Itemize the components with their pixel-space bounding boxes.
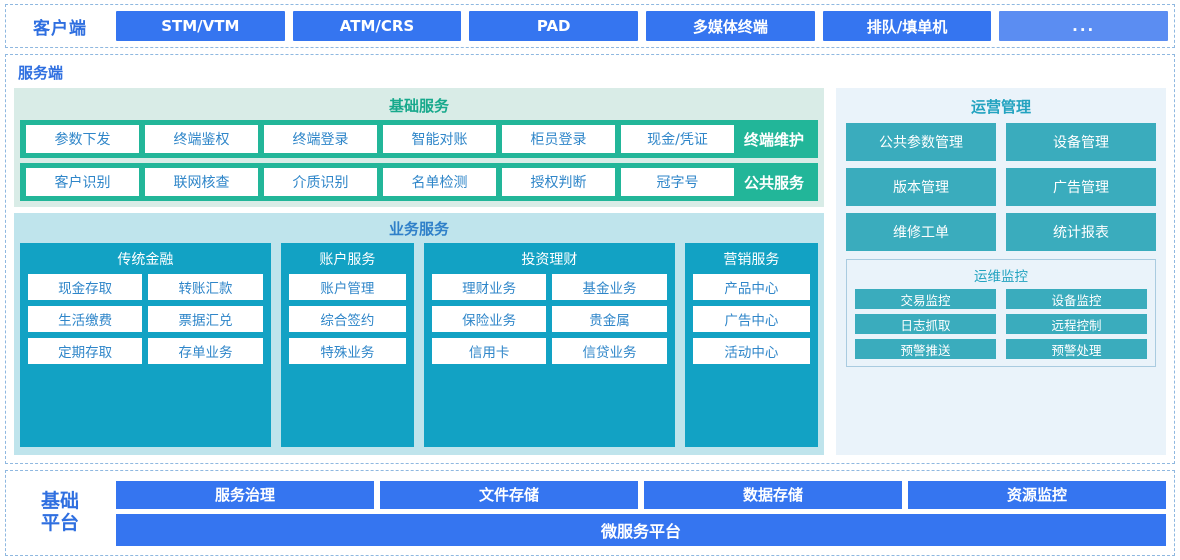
ops-item-statistical-report[interactable]: 统计报表 <box>1006 213 1156 251</box>
service-online-verification[interactable]: 联网核查 <box>145 168 258 196</box>
platform-section: 基础 平台 服务治理 文件存储 数据存储 资源监控 微服务平台 <box>5 470 1175 556</box>
service-serial-number[interactable]: 冠字号 <box>621 168 734 196</box>
business-group-title-investment-wealth: 投资理财 <box>432 247 667 274</box>
operations-monitoring-title: 运维监控 <box>855 262 1147 289</box>
business-group-marketing-service: 营销服务 产品中心 广告中心 活动中心 <box>685 243 818 447</box>
platform-title-line1: 基础 <box>14 491 106 513</box>
business-group-items-investment-wealth: 理财业务 基金业务 保险业务 贵金属 信用卡 信贷业务 <box>432 274 667 439</box>
business-item-account-management[interactable]: 账户管理 <box>289 274 406 300</box>
ops-item-repair-work-order[interactable]: 维修工单 <box>846 213 996 251</box>
platform-content: 服务治理 文件存储 数据存储 资源监控 微服务平台 <box>116 481 1166 546</box>
business-item-insurance-business[interactable]: 保险业务 <box>432 306 546 332</box>
business-services-groups: 传统金融 现金存取 转账汇款 生活缴费 票据汇兑 定期存取 存单业务 <box>20 243 818 447</box>
monitor-item-device-monitoring[interactable]: 设备监控 <box>1006 289 1147 309</box>
business-group-title-marketing-service: 营销服务 <box>693 247 810 274</box>
business-item-product-center[interactable]: 产品中心 <box>693 274 810 300</box>
basic-services-row-label-public-service: 公共服务 <box>740 172 812 193</box>
business-item-activity-center[interactable]: 活动中心 <box>693 338 810 364</box>
business-item-comprehensive-signing[interactable]: 综合签约 <box>289 306 406 332</box>
business-item-fund-business[interactable]: 基金业务 <box>552 274 666 300</box>
basic-services-row-label-terminal-maintenance: 终端维护 <box>740 129 812 150</box>
ops-item-advertising-management[interactable]: 广告管理 <box>1006 168 1156 206</box>
service-smart-reconciliation[interactable]: 智能对账 <box>383 125 496 153</box>
business-item-wealth-management[interactable]: 理财业务 <box>432 274 546 300</box>
basic-services-row-public-service: 客户识别 联网核查 介质识别 名单检测 授权判断 冠字号 公共服务 <box>20 163 818 201</box>
business-group-title-account-service: 账户服务 <box>289 247 406 274</box>
business-item-cash-deposit-withdrawal[interactable]: 现金存取 <box>28 274 142 300</box>
business-item-special-business[interactable]: 特殊业务 <box>289 338 406 364</box>
business-item-fixed-deposit[interactable]: 定期存取 <box>28 338 142 364</box>
platform-section-title: 基础 平台 <box>14 491 106 535</box>
service-teller-login[interactable]: 柜员登录 <box>502 125 615 153</box>
client-item-queue-form-machine[interactable]: 排队/填单机 <box>823 11 992 41</box>
client-section-title: 客户端 <box>12 14 108 39</box>
business-item-certificate-deposit[interactable]: 存单业务 <box>148 338 262 364</box>
operations-management-title: 运营管理 <box>846 92 1156 123</box>
operations-monitoring-box: 运维监控 交易监控 设备监控 日志抓取 远程控制 预警推送 预警处理 <box>846 259 1156 367</box>
monitor-item-transaction-monitoring[interactable]: 交易监控 <box>855 289 996 309</box>
platform-item-service-governance[interactable]: 服务治理 <box>116 481 374 509</box>
business-item-advertising-center[interactable]: 广告中心 <box>693 306 810 332</box>
platform-title-line2: 平台 <box>14 513 106 535</box>
platform-item-file-storage[interactable]: 文件存储 <box>380 481 638 509</box>
business-item-transfer-remittance[interactable]: 转账汇款 <box>148 274 262 300</box>
business-group-items-traditional-finance: 现金存取 转账汇款 生活缴费 票据汇兑 定期存取 存单业务 <box>28 274 263 439</box>
business-group-title-traditional-finance: 传统金融 <box>28 247 263 274</box>
operations-management-panel: 运营管理 公共参数管理 设备管理 版本管理 广告管理 维修工单 统计报表 运维监… <box>836 88 1166 455</box>
service-authorization-judgement[interactable]: 授权判断 <box>502 168 615 196</box>
server-body: 基础服务 参数下发 终端鉴权 终端登录 智能对账 柜员登录 现金/凭证 终端维护… <box>14 88 1166 455</box>
business-group-account-service: 账户服务 账户管理 综合签约 特殊业务 <box>281 243 414 447</box>
platform-item-data-storage[interactable]: 数据存储 <box>644 481 902 509</box>
client-section: 客户端 STM/VTM ATM/CRS PAD 多媒体终端 排队/填单机 ... <box>5 4 1175 48</box>
basic-services-title: 基础服务 <box>20 92 818 120</box>
platform-item-resource-monitoring[interactable]: 资源监控 <box>908 481 1166 509</box>
monitor-item-log-capture[interactable]: 日志抓取 <box>855 314 996 334</box>
business-group-traditional-finance: 传统金融 现金存取 转账汇款 生活缴费 票据汇兑 定期存取 存单业务 <box>20 243 271 447</box>
monitor-item-alert-handling[interactable]: 预警处理 <box>1006 339 1147 359</box>
service-terminal-auth[interactable]: 终端鉴权 <box>145 125 258 153</box>
business-item-credit-business[interactable]: 信贷业务 <box>552 338 666 364</box>
business-item-credit-card[interactable]: 信用卡 <box>432 338 546 364</box>
service-cash-voucher[interactable]: 现金/凭证 <box>621 125 734 153</box>
business-item-living-payment[interactable]: 生活缴费 <box>28 306 142 332</box>
service-media-recognition[interactable]: 介质识别 <box>264 168 377 196</box>
business-group-items-marketing-service: 产品中心 广告中心 活动中心 <box>693 274 810 439</box>
ops-item-device-management[interactable]: 设备管理 <box>1006 123 1156 161</box>
service-terminal-login[interactable]: 终端登录 <box>264 125 377 153</box>
client-item-more[interactable]: ... <box>999 11 1168 41</box>
client-item-stm-vtm[interactable]: STM/VTM <box>116 11 285 41</box>
service-customer-identification[interactable]: 客户识别 <box>26 168 139 196</box>
monitor-item-alert-push[interactable]: 预警推送 <box>855 339 996 359</box>
business-services-title: 业务服务 <box>20 215 818 243</box>
business-item-bill-exchange[interactable]: 票据汇兑 <box>148 306 262 332</box>
client-item-multimedia-terminal[interactable]: 多媒体终端 <box>646 11 815 41</box>
business-group-items-account-service: 账户管理 综合签约 特殊业务 <box>289 274 406 439</box>
services-column: 基础服务 参数下发 终端鉴权 终端登录 智能对账 柜员登录 现金/凭证 终端维护… <box>14 88 824 455</box>
platform-chip-row: 服务治理 文件存储 数据存储 资源监控 <box>116 481 1166 509</box>
architecture-diagram: 客户端 STM/VTM ATM/CRS PAD 多媒体终端 排队/填单机 ...… <box>0 0 1180 560</box>
server-section: 服务端 基础服务 参数下发 终端鉴权 终端登录 智能对账 柜员登录 现金/凭证 … <box>5 54 1175 464</box>
ops-item-version-management[interactable]: 版本管理 <box>846 168 996 206</box>
operations-monitoring-grid: 交易监控 设备监控 日志抓取 远程控制 预警推送 预警处理 <box>855 289 1147 359</box>
client-item-atm-crs[interactable]: ATM/CRS <box>293 11 462 41</box>
service-list-detection[interactable]: 名单检测 <box>383 168 496 196</box>
monitor-item-remote-control[interactable]: 远程控制 <box>1006 314 1147 334</box>
service-param-delivery[interactable]: 参数下发 <box>26 125 139 153</box>
business-services-panel: 业务服务 传统金融 现金存取 转账汇款 生活缴费 票据汇兑 定期存取 存单业务 <box>14 213 824 455</box>
business-group-investment-wealth: 投资理财 理财业务 基金业务 保险业务 贵金属 信用卡 信贷业务 <box>424 243 675 447</box>
basic-services-row-terminal-maintenance: 参数下发 终端鉴权 终端登录 智能对账 柜员登录 现金/凭证 终端维护 <box>20 120 818 158</box>
basic-services-panel: 基础服务 参数下发 终端鉴权 终端登录 智能对账 柜员登录 现金/凭证 终端维护… <box>14 88 824 207</box>
ops-item-public-parameter-management[interactable]: 公共参数管理 <box>846 123 996 161</box>
operations-management-grid: 公共参数管理 设备管理 版本管理 广告管理 维修工单 统计报表 <box>846 123 1156 251</box>
platform-item-microservice-platform[interactable]: 微服务平台 <box>116 514 1166 546</box>
server-section-title: 服务端 <box>14 61 1166 88</box>
business-item-precious-metals[interactable]: 贵金属 <box>552 306 666 332</box>
client-item-pad[interactable]: PAD <box>469 11 638 41</box>
